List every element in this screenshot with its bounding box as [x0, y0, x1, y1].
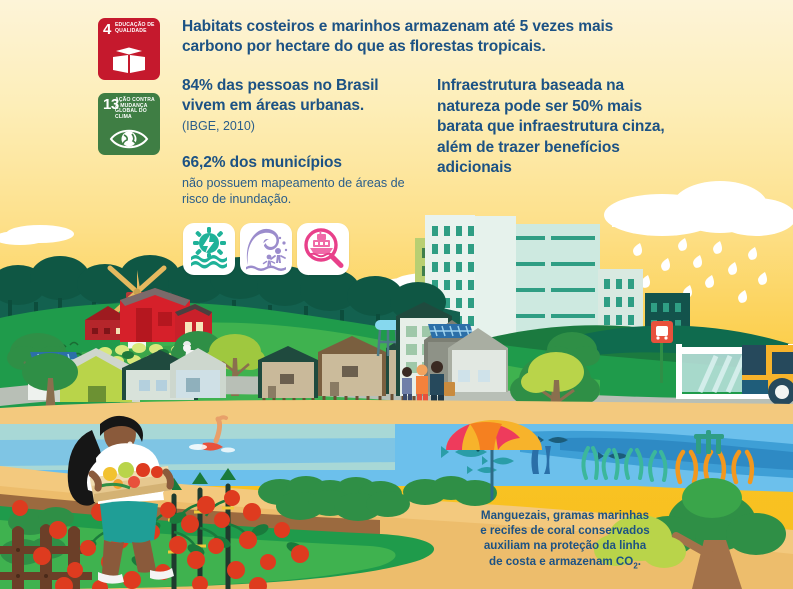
headline-text: Habitats costeiros e marinhos armazenam …: [182, 17, 622, 57]
rain-cloud: [604, 181, 793, 236]
sdg-badge-13-caption: AÇÃO CONTRA A MUDANÇA GLOBAL DO CLIMA: [115, 98, 157, 120]
sdg-badge-4[interactable]: 4 EDUCAÇÃO DE QUALIDADE: [98, 18, 160, 80]
storm-flood-icon: [183, 223, 235, 275]
sdg-badge-13[interactable]: 13 AÇÃO CONTRA A MUDANÇA GLOBAL DO CLIMA: [98, 93, 160, 155]
icon-card-tsunami[interactable]: [240, 223, 292, 275]
caption-line-1: Manguezais, gramas marinhas: [440, 508, 690, 523]
caption-line-2: e recifes de coral conservados: [440, 523, 690, 538]
caption-line-4-post: .: [638, 555, 641, 568]
stat-municipalities-sub: não possuem mapeamento de áreas de risco…: [182, 175, 412, 207]
ship-magnifier-icon: [297, 223, 349, 275]
stat-urban-population-source: (IBGE, 2010): [182, 119, 255, 133]
stat-urban-population: 84% das pessoas no Brasil vivem em áreas…: [182, 76, 422, 116]
caption-line-4-pre: de costa e armazenam CO: [489, 555, 633, 568]
caption-line-3: auxiliam na proteção da linha: [440, 538, 690, 553]
cloud-small-left: [0, 225, 74, 245]
caption-line-4: de costa e armazenam CO2.: [440, 554, 690, 574]
icon-card-storm-flood[interactable]: [183, 223, 235, 275]
sdg-badge-4-number: 4: [103, 23, 111, 36]
icon-card-ship-monitoring[interactable]: [297, 223, 349, 275]
tsunami-wave-icon: [240, 223, 292, 275]
open-book-icon: [111, 44, 147, 76]
infographic-canvas: 4 EDUCAÇÃO DE QUALIDADE 13 AÇÃO CONTRA A…: [0, 0, 793, 589]
stat-municipalities: 66,2% dos municípios: [182, 153, 412, 173]
nature-infrastructure-text: Infraestrutura baseada na natureza pode …: [437, 76, 687, 179]
coastal-caption: Manguezais, gramas marinhas e recifes de…: [440, 508, 690, 573]
ocean-left-deep: [0, 438, 400, 466]
eye-globe-icon: [109, 127, 149, 151]
sdg-badge-4-caption: EDUCAÇÃO DE QUALIDADE: [115, 23, 157, 34]
